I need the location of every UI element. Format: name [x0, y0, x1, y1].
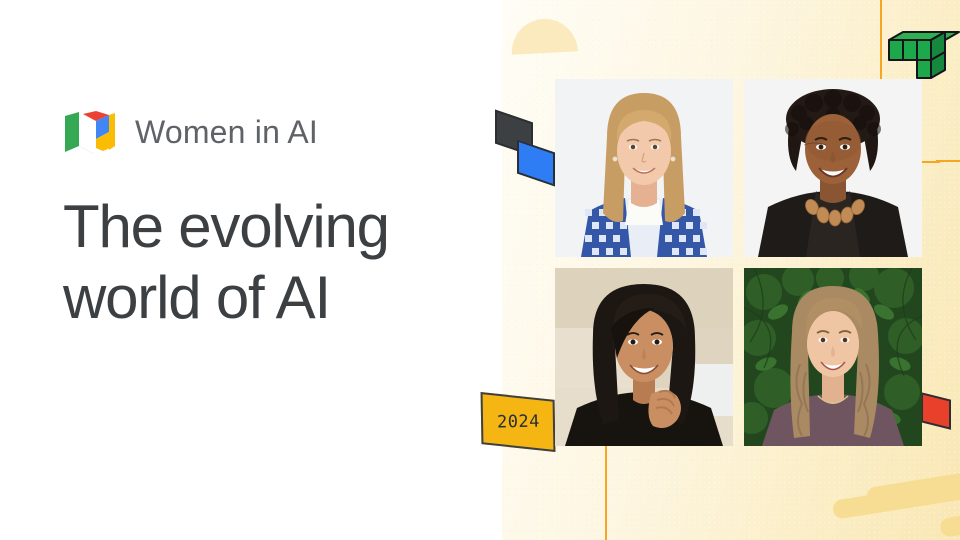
green-tetris-block-icon — [883, 16, 960, 82]
year-badge-label: 2024 — [496, 412, 539, 433]
year-badge: 2024 — [481, 392, 556, 452]
brand-name: Women in AI — [135, 114, 318, 151]
slide-canvas: 2024 — [0, 0, 960, 540]
google-cube-logo-icon — [63, 110, 117, 154]
headline-line-2: world of AI — [63, 263, 483, 334]
photo-bottom-right — [744, 268, 922, 446]
speaker-photo-grid — [555, 79, 922, 446]
page-title: The evolving world of AI — [63, 192, 483, 334]
brand-lockup: Women in AI — [63, 110, 318, 154]
photo-top-right — [744, 79, 922, 257]
headline-line-1: The evolving — [63, 193, 389, 260]
photo-top-left — [555, 79, 733, 257]
photo-bottom-left — [555, 268, 733, 446]
